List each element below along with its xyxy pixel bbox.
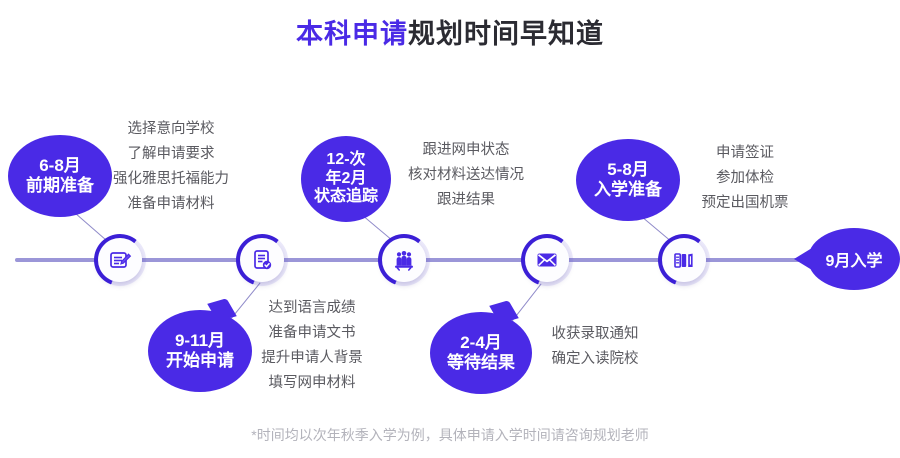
document-edit-icon	[108, 248, 132, 272]
period-line-2: 年2月	[326, 170, 367, 189]
period-line-1: 2-4月	[460, 333, 502, 353]
period-line-1: 6-8月	[39, 156, 81, 176]
detail-line: 准备申请材料	[102, 192, 240, 217]
stage-details-stage-1: 选择意向学校 了解申请要求 强化雅思托福能力 准备申请材料	[102, 117, 240, 217]
detail-line: 收获录取通知	[528, 322, 662, 347]
period-bubble-stage-5[interactable]: 5-8月 入学准备	[576, 139, 680, 221]
period-bubble-stage-3[interactable]: 12-次 年2月 状态追踪	[301, 136, 391, 222]
infographic-canvas: 本科申请规划时间早知道	[0, 0, 900, 458]
period-line-2: 开始申请	[166, 351, 234, 371]
node-inner	[98, 238, 142, 282]
page-title: 本科申请规划时间早知道	[0, 12, 900, 51]
people-group-icon	[392, 248, 416, 272]
timeline-node-stage-5[interactable]	[662, 238, 706, 282]
detail-line: 核对材料送达情况	[392, 163, 540, 188]
detail-line: 跟进网申状态	[392, 138, 540, 163]
books-luggage-icon	[672, 248, 696, 272]
detail-line: 跟进结果	[392, 188, 540, 213]
period-bubble-stage-4[interactable]: 2-4月 等待结果	[430, 312, 532, 394]
node-inner	[240, 238, 284, 282]
stage-details-stage-5: 申请签证 参加体检 预定出国机票	[678, 141, 812, 216]
timeline-node-stage-3[interactable]	[382, 238, 426, 282]
end-marker-bubble[interactable]: 9月入学	[808, 228, 900, 290]
period-bubble-stage-1[interactable]: 6-8月 前期准备	[8, 135, 112, 217]
detail-line: 确定入读院校	[528, 347, 662, 372]
end-marker-label: 9月入学	[826, 247, 883, 271]
detail-line: 达到语言成绩	[243, 296, 381, 321]
detail-line: 预定出国机票	[678, 191, 812, 216]
timeline-node-stage-4[interactable]	[525, 238, 569, 282]
period-line-1: 9-11月	[175, 331, 225, 351]
node-inner	[662, 238, 706, 282]
period-bubble-stage-2[interactable]: 9-11月 开始申请	[148, 310, 252, 392]
page-title-accent: 本科申请	[296, 19, 408, 49]
detail-line: 填写网申材料	[243, 371, 381, 396]
detail-line: 准备申请文书	[243, 321, 381, 346]
node-inner	[525, 238, 569, 282]
detail-line: 申请签证	[678, 141, 812, 166]
stage-details-stage-3: 跟进网申状态 核对材料送达情况 跟进结果	[392, 138, 540, 213]
stage-details-stage-2: 达到语言成绩 准备申请文书 提升申请人背景 填写网申材料	[243, 296, 381, 396]
checklist-document-icon	[250, 248, 274, 272]
detail-line: 参加体检	[678, 166, 812, 191]
detail-line: 选择意向学校	[102, 117, 240, 142]
node-inner	[382, 238, 426, 282]
period-line-2: 等待结果	[447, 353, 515, 373]
period-line-3: 状态追踪	[314, 188, 378, 207]
period-line-1: 5-8月	[607, 160, 649, 180]
stage-details-stage-4: 收获录取通知 确定入读院校	[528, 322, 662, 372]
footer-note: *时间均以次年秋季入学为例，具体申请入学时间请咨询规划老师	[0, 425, 900, 445]
detail-line: 强化雅思托福能力	[102, 167, 240, 192]
timeline-node-stage-1[interactable]	[98, 238, 142, 282]
page-title-plain: 规划时间早知道	[408, 19, 604, 49]
detail-line: 了解申请要求	[102, 142, 240, 167]
envelope-icon	[535, 248, 559, 272]
period-line-1: 12-次	[326, 151, 365, 170]
timeline-node-stage-2[interactable]	[240, 238, 284, 282]
period-line-2: 前期准备	[26, 176, 94, 196]
period-line-2: 入学准备	[594, 180, 662, 200]
detail-line: 提升申请人背景	[243, 346, 381, 371]
